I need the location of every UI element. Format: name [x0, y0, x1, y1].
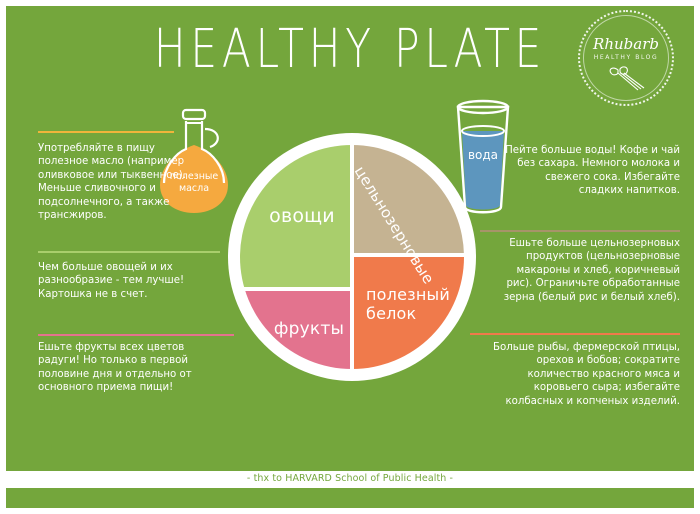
- infographic-poster: HEALTHY PLATE Rhubarb HEALTHY BLOG полез: [0, 0, 700, 514]
- connector-line-water: [480, 230, 680, 232]
- logo-brand-name: Rhubarb: [578, 35, 674, 53]
- plate-label-vegetables: овощи: [254, 207, 350, 226]
- note-water: Пейте больше воды! Кофе и чай без сахара…: [500, 144, 680, 198]
- frame-edge-bottom: [0, 508, 700, 514]
- plate-label-fruits: фрукты: [268, 320, 350, 339]
- frame-edge-top: [0, 0, 700, 6]
- footer-credit: - thx to HARVARD School of Public Health…: [0, 473, 700, 484]
- plate-label-protein: полезный белок: [366, 285, 458, 323]
- note-oil: Употребляйте в пищу полезное масло (напр…: [38, 142, 206, 222]
- plate-inner: овощи фрукты цельнозерновые полезный бел…: [240, 145, 464, 369]
- rhubarb-plant-icon: [604, 64, 648, 94]
- note-protein: Больше рыбы, фермерской птицы, орехов и …: [490, 341, 680, 408]
- connector-line-vegetables: [38, 251, 220, 253]
- connector-line-oil: [38, 131, 174, 133]
- frame-edge-left: [0, 0, 6, 514]
- note-fruits: Ешьте фрукты всех цветов радуги! Но толь…: [38, 341, 218, 395]
- connector-line-fruits: [38, 334, 234, 336]
- healthy-plate-chart: овощи фрукты цельнозерновые полезный бел…: [228, 133, 476, 381]
- logo-tagline: HEALTHY BLOG: [578, 54, 674, 61]
- connector-line-protein: [470, 333, 680, 335]
- note-vegetables: Чем больше овощей и их разнообразие - те…: [38, 261, 206, 301]
- logo-badge[interactable]: Rhubarb HEALTHY BLOG: [578, 24, 674, 90]
- note-whole-grains: Ешьте больше цельнозерновых продуктов (ц…: [500, 237, 680, 304]
- frame-edge-right: [694, 0, 700, 514]
